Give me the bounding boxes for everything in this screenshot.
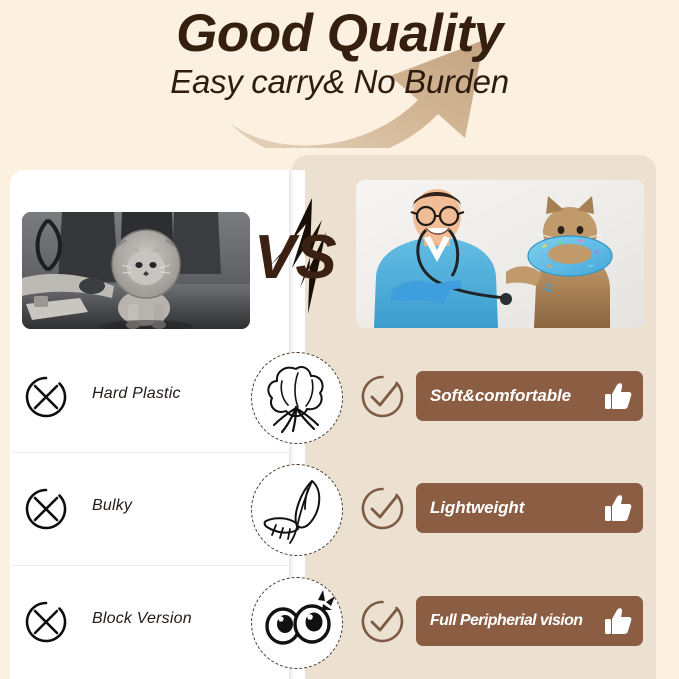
header: Good Quality Easy carry& No Burden (0, 0, 679, 155)
pro-button[interactable]: Lightweight (416, 483, 643, 533)
check-circle-icon (360, 599, 405, 644)
after-photo (356, 180, 644, 328)
vs-text: VS (254, 223, 337, 292)
before-photo (22, 212, 250, 329)
page-title: Good Quality (0, 4, 679, 64)
pro-button[interactable]: Full Peripherial vision (416, 596, 643, 646)
con-label: Hard Plastic (92, 385, 252, 403)
thumbs-up-icon (603, 381, 633, 411)
vs-badge: VS (248, 196, 358, 321)
check-circle-icon (360, 374, 405, 419)
comparison-row: Block Version Full Peripherial vi (0, 566, 679, 678)
feather-icon (252, 465, 342, 555)
feature-icon-circle (251, 577, 343, 669)
x-circle-icon (24, 375, 68, 419)
con-label: Bulky (92, 497, 252, 515)
feature-icon-circle (251, 352, 343, 444)
infographic-root: Good Quality Easy carry& No Burden (0, 0, 679, 679)
comparison-row: Hard Plastic (0, 341, 679, 453)
thumbs-up-icon (603, 493, 633, 523)
pro-label: Lightweight (430, 498, 603, 518)
pro-label: Soft&comfortable (430, 386, 603, 406)
pro-label: Full Peripherial vision (430, 612, 603, 630)
x-circle-icon (24, 487, 68, 531)
feature-icon-circle (251, 464, 343, 556)
cartoon-eyes-icon (252, 578, 342, 668)
pro-button[interactable]: Soft&comfortable (416, 371, 643, 421)
x-circle-icon (24, 600, 68, 644)
check-circle-icon (360, 486, 405, 531)
thumbs-up-icon (603, 606, 633, 636)
con-label: Block Version (92, 610, 252, 628)
cotton-flower-icon (252, 353, 342, 443)
page-subtitle: Easy carry& No Burden (0, 62, 679, 102)
comparison-row: Bulky Lightweight (0, 453, 679, 565)
